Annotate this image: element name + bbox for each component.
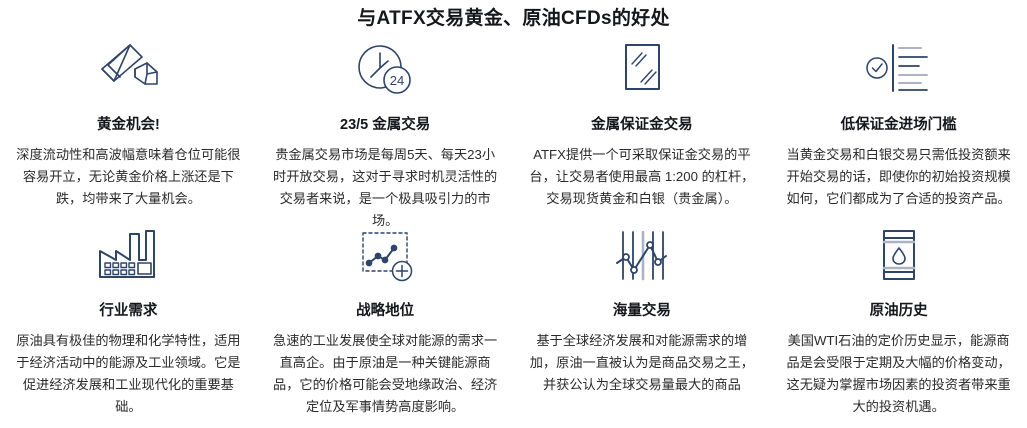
gold-bars-icon xyxy=(90,39,166,101)
feature-body: 原油具有极佳的物理和化学特性，适用于经济活动中的能源及工业领域。它是促进经济发展… xyxy=(14,330,243,418)
feature-title: 金属保证金交易 xyxy=(591,116,693,134)
feature-body: ATFX提供一个可采取保证金交易的平台，让交易者使用最高 1:200 的杠杆，交… xyxy=(528,144,757,210)
page-title: 与ATFX交易黄金、原油CFDs的好处 xyxy=(0,0,1027,31)
feature-body: 美国WTI石油的定价历史显示，能源商品是会受限于定期及大幅的价格变动，这无疑为掌… xyxy=(784,330,1013,418)
feature-title: 战略地位 xyxy=(356,302,414,320)
feature-title: 黄金机会! xyxy=(97,116,160,134)
feature-card-industry-demand: 行业需求 原油具有极佳的物理和化学特性，适用于经济活动中的能源及工业领域。它是促… xyxy=(0,211,257,418)
clock-24-icon: 24 xyxy=(347,39,423,101)
feature-title: 原油历史 xyxy=(870,302,928,320)
feature-card-trading-hours: 24 23/5 金属交易 贵金属交易市场是每周5天、每天23小时开放交易，这对于… xyxy=(257,31,514,211)
feature-card-oil-history: 原油历史 美国WTI石油的定价历史显示，能源商品是会受限于定期及大幅的价格变动，… xyxy=(770,211,1027,418)
factory-icon xyxy=(90,225,166,287)
metal-plate-icon xyxy=(604,39,680,101)
features-grid: 黄金机会! 深度流动性和高波幅意味着仓位可能很容易开立，无论黄金价格上涨还是下跌… xyxy=(0,31,1027,418)
feature-card-margin-trading: 金属保证金交易 ATFX提供一个可采取保证金交易的平台，让交易者使用最高 1:2… xyxy=(514,31,771,211)
feature-card-huge-volume: 海量交易 基于全球经济发展和对能源需求的增加，原油一直被认为是商品交易之王，并获… xyxy=(514,211,771,418)
feature-body: 急速的工业发展使全球对能源的需求一直高企。由于原油是一种关键能源商品，它的价格可… xyxy=(271,330,500,418)
feature-body: 深度流动性和高波幅意味着仓位可能很容易开立，无论黄金价格上涨还是下跌，均带来了大… xyxy=(14,144,243,210)
volume-chart-icon xyxy=(604,225,680,287)
feature-title: 23/5 金属交易 xyxy=(340,116,430,134)
chart-add-icon xyxy=(347,225,423,287)
feature-title: 低保证金进场门槛 xyxy=(841,116,957,134)
feature-card-gold-opportunity: 黄金机会! 深度流动性和高波幅意味着仓位可能很容易开立，无论黄金价格上涨还是下跌… xyxy=(0,31,257,211)
clock-badge-label: 24 xyxy=(390,73,404,88)
feature-card-low-entry: 低保证金进场门槛 当黄金交易和白银交易只需低投资额来开始交易的话，即使你的初始投… xyxy=(770,31,1027,211)
feature-title: 行业需求 xyxy=(99,302,157,320)
feature-body: 基于全球经济发展和对能源需求的增加，原油一直被认为是商品交易之王，并获公认为全球… xyxy=(528,330,757,396)
feature-body: 当黄金交易和白银交易只需低投资额来开始交易的话，即使你的初始投资规模如何，它们都… xyxy=(784,144,1013,210)
oil-barrel-icon xyxy=(861,225,937,287)
feature-title: 海量交易 xyxy=(613,302,671,320)
checklist-icon xyxy=(859,39,939,101)
benefits-page: 与ATFX交易黄金、原油CFDs的好处 黄金机会! 深度流动性和高波幅意味着仓位… xyxy=(0,0,1027,428)
feature-card-strategic-position: 战略地位 急速的工业发展使全球对能源的需求一直高企。由于原油是一种关键能源商品，… xyxy=(257,211,514,418)
